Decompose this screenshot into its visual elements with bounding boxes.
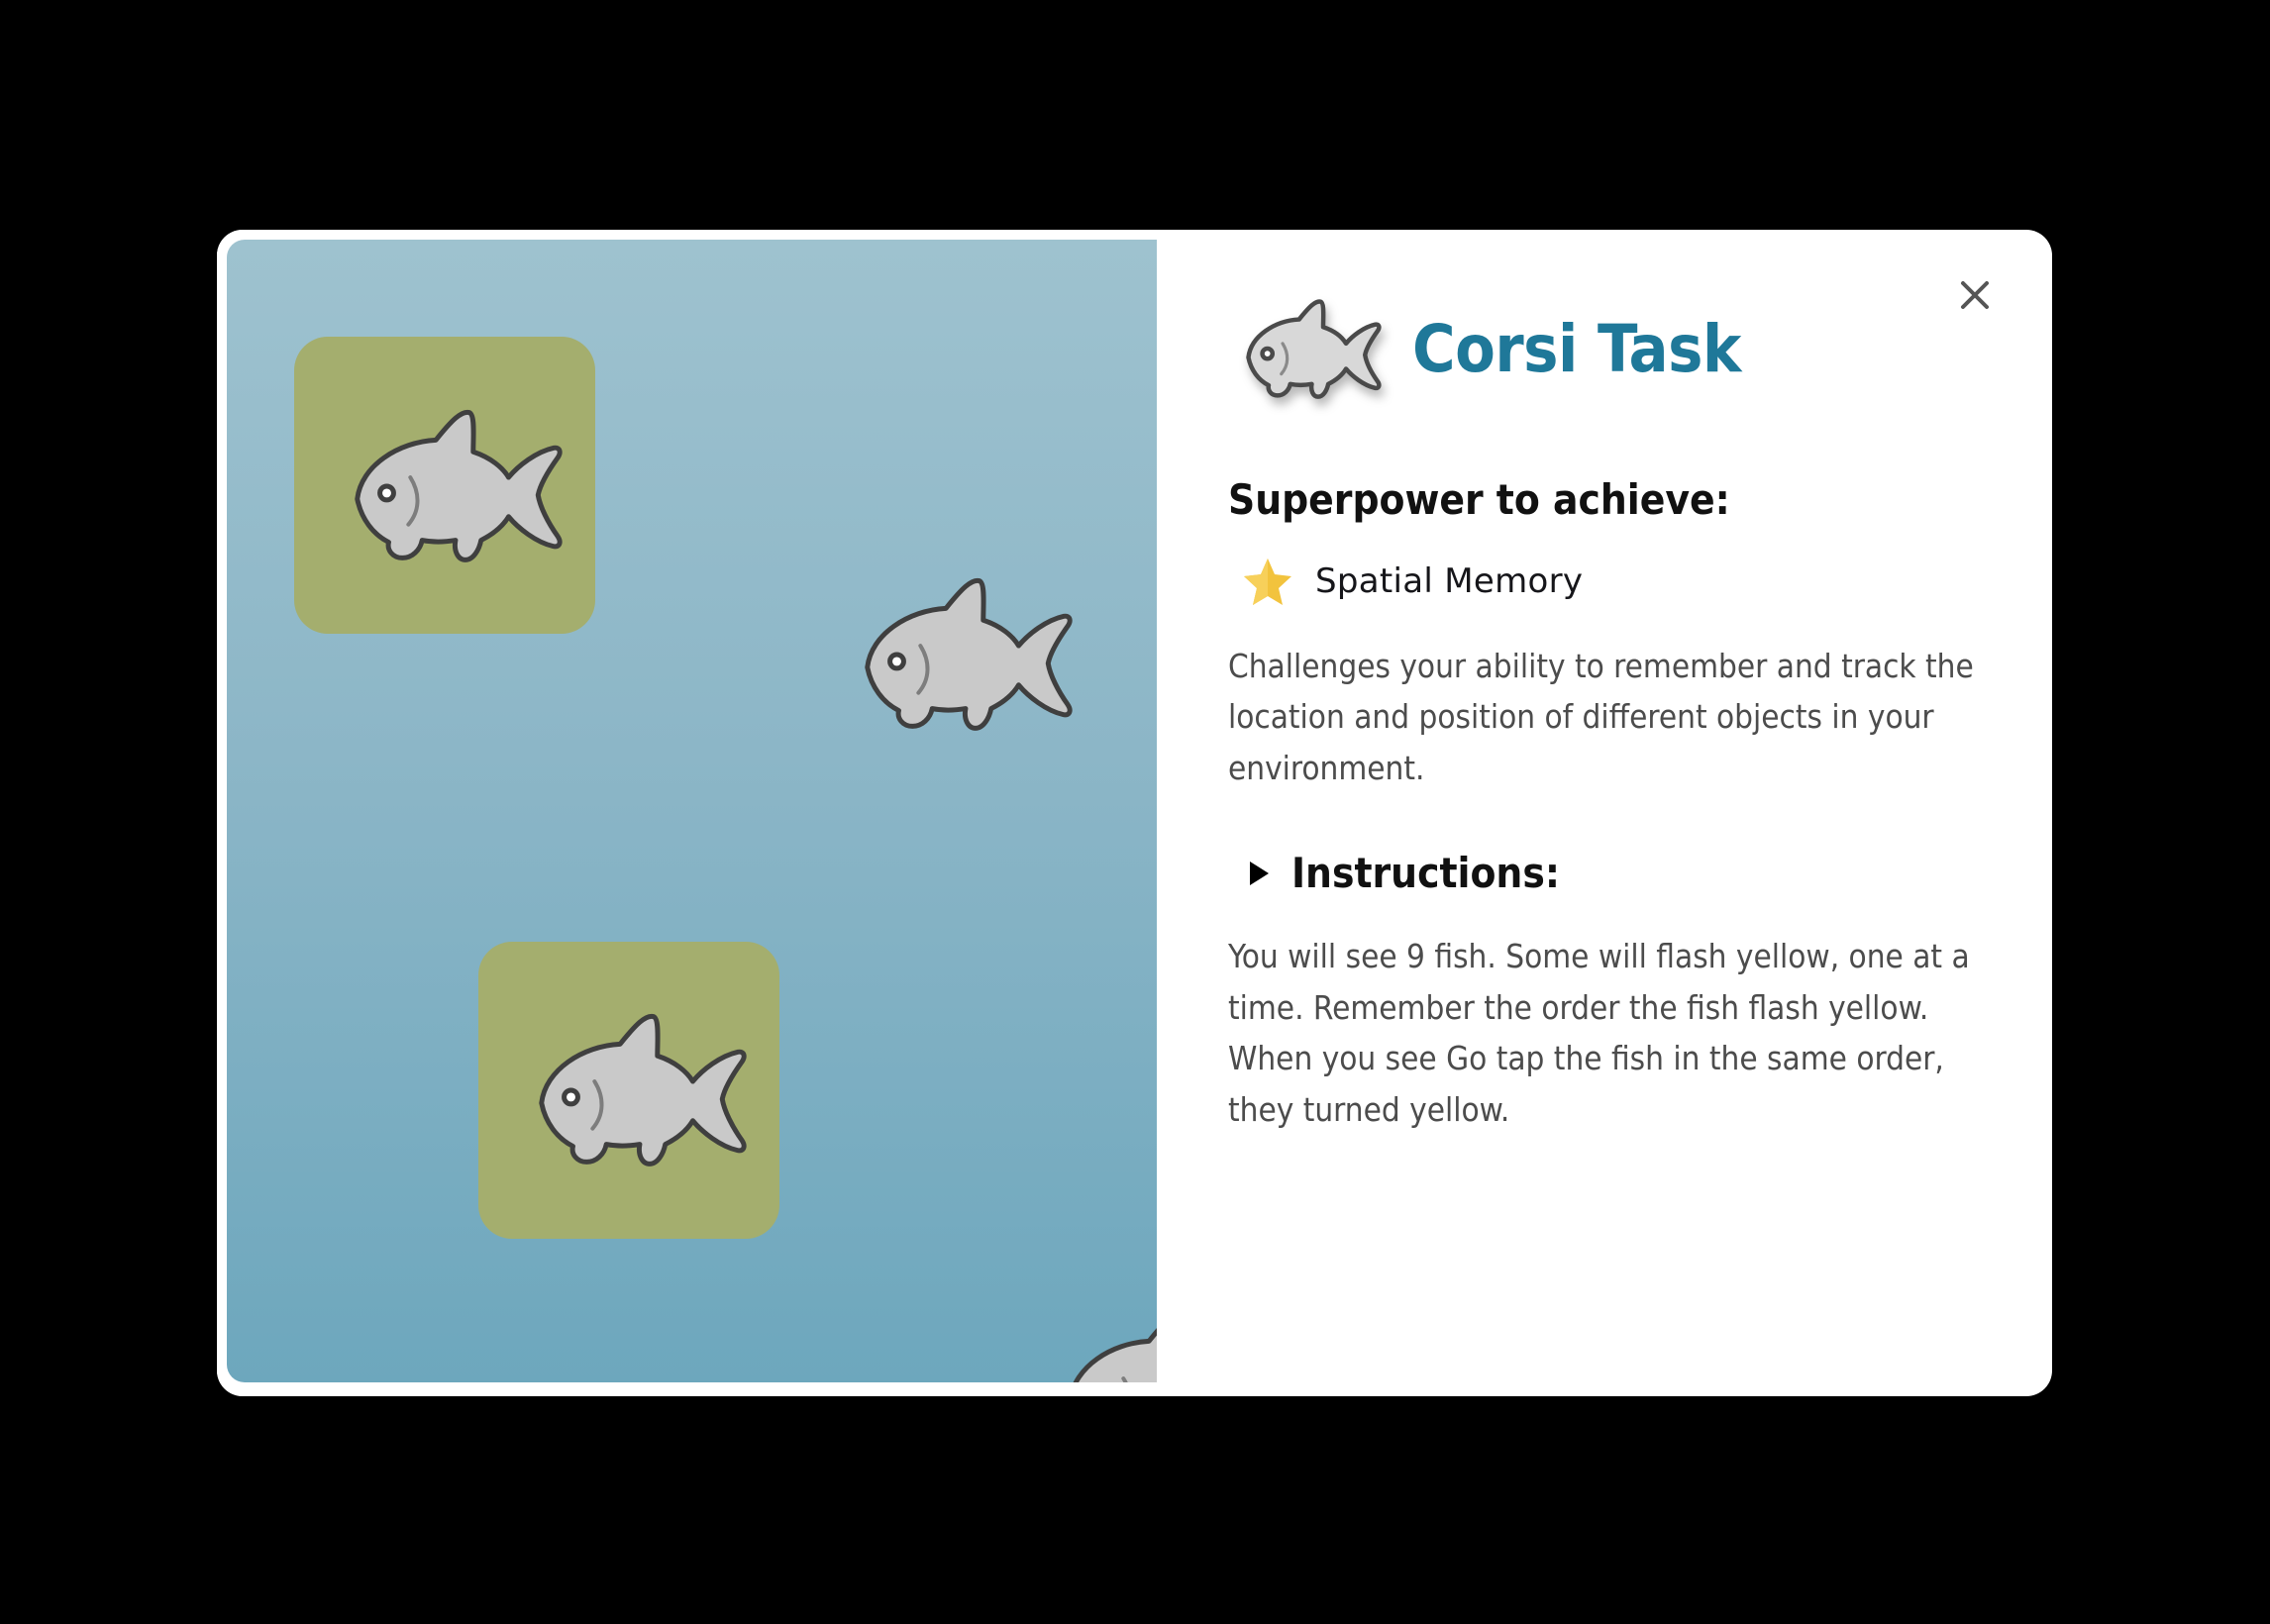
page-title: Corsi Task bbox=[1412, 311, 1741, 387]
fish-2[interactable] bbox=[836, 564, 1082, 743]
star-icon bbox=[1242, 556, 1293, 607]
fish-1[interactable] bbox=[326, 396, 571, 574]
task-info-pane: Corsi Task Superpower to achieve: Spatia… bbox=[1157, 230, 2052, 1396]
fish-4[interactable] bbox=[1039, 1297, 1157, 1382]
superpower-heading: Superpower to achieve: bbox=[1228, 475, 1991, 524]
instructions-toggle[interactable]: Instructions: bbox=[1228, 849, 1991, 897]
close-button[interactable] bbox=[1947, 267, 2003, 323]
instructions-text: You will see 9 fish. Some will flash yel… bbox=[1228, 931, 1991, 1135]
instructions-heading: Instructions: bbox=[1291, 849, 1560, 897]
modal-header: Corsi Task bbox=[1228, 291, 1991, 406]
fish-icon bbox=[1228, 291, 1387, 406]
fish-3[interactable] bbox=[510, 1000, 756, 1178]
superpower-description: Challenges your ability to remember and … bbox=[1228, 641, 1991, 793]
superpower-label: Spatial Memory bbox=[1315, 561, 1583, 601]
superpower-badge: Spatial Memory bbox=[1228, 556, 1991, 607]
close-icon bbox=[1955, 275, 1995, 315]
aquarium-water bbox=[227, 240, 1157, 1382]
task-intro-modal: Corsi Task Superpower to achieve: Spatia… bbox=[217, 230, 2052, 1396]
triangle-right-icon bbox=[1246, 859, 1272, 888]
instructions-section: Instructions: You will see 9 fish. Some … bbox=[1228, 849, 1991, 1135]
aquarium-preview-pane bbox=[217, 230, 1157, 1396]
